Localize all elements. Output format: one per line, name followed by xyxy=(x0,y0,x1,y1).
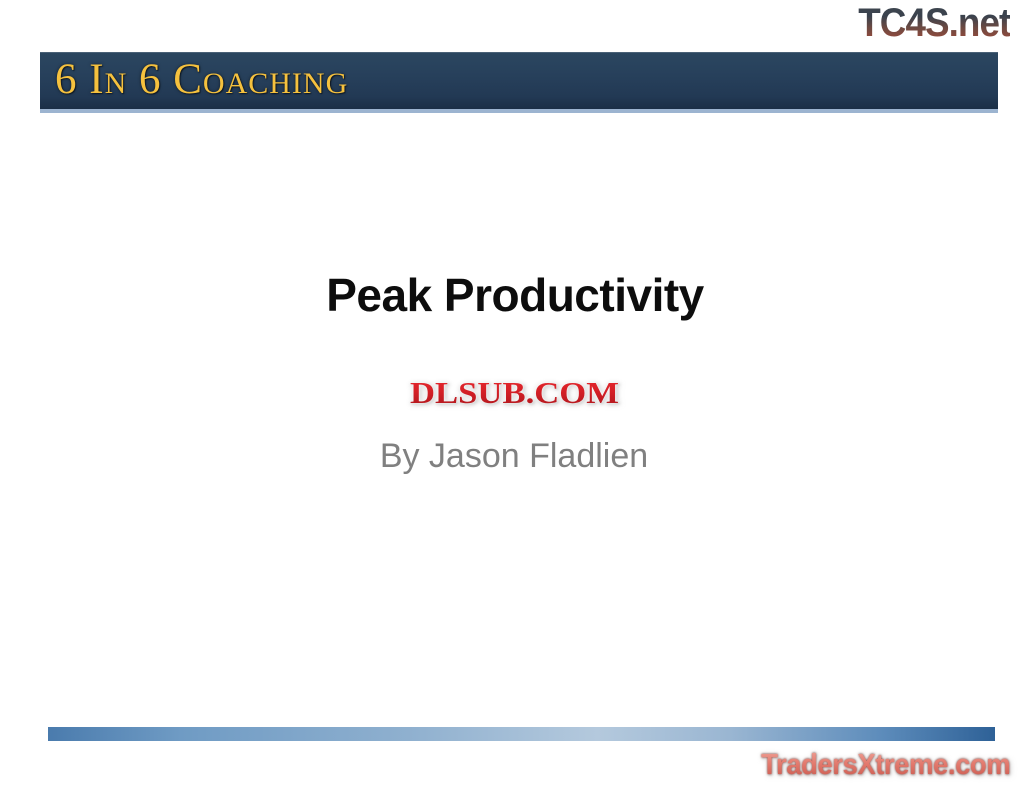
tradersxtreme-watermark: TradersXtreme.com xyxy=(761,748,1010,782)
header-banner-title: 6 In 6 Coaching xyxy=(55,57,348,103)
slide-byline: By Jason Fladlien xyxy=(0,435,1024,477)
dlsub-watermark: DLSUB.COM xyxy=(0,376,1024,412)
tc4s-watermark: TC4S.net xyxy=(858,2,1010,44)
page-title: Peak Productivity xyxy=(0,268,1024,322)
footer-divider-bar xyxy=(48,727,995,741)
slide-content: Peak Productivity DLSUB.COM By Jason Fla… xyxy=(0,0,1024,791)
header-banner: 6 In 6 Coaching xyxy=(40,52,998,113)
dlsub-watermark-text: DLSUB.COM xyxy=(410,377,619,410)
presentation-slide: TC4S.net 6 In 6 Coaching Peak Productivi… xyxy=(0,0,1024,791)
